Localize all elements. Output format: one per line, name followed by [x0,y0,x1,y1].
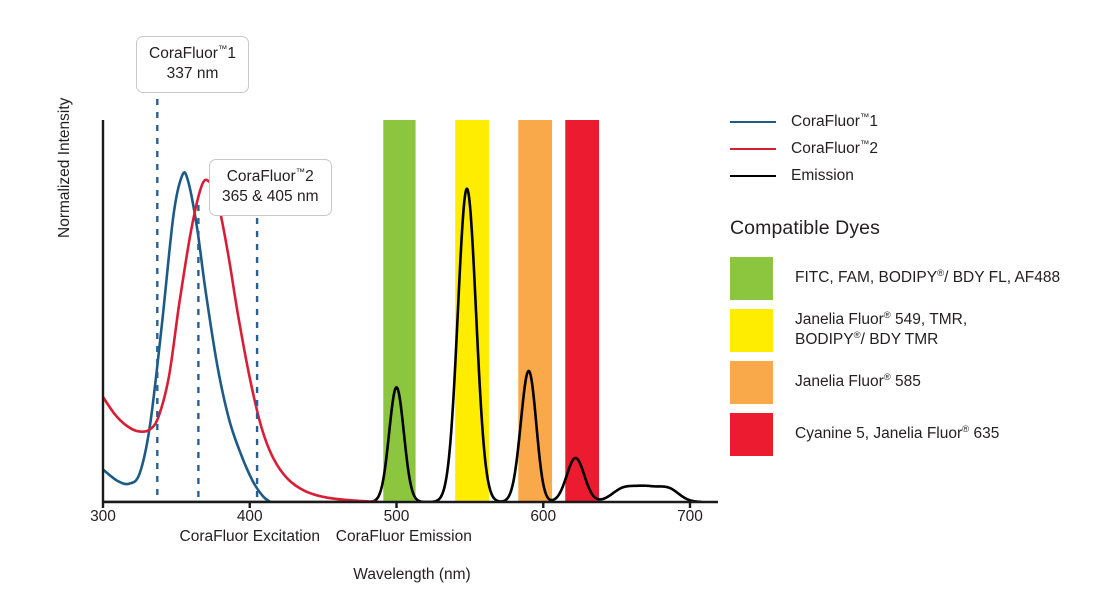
series-legend: CoraFluor™1CoraFluor™2Emission [730,108,1090,189]
legend-series-line-swatch [730,148,776,150]
compatible-dyes-heading: Compatible Dyes [730,217,1090,240]
callout-corafluor2: CoraFluor™2 365 & 405 nm [209,159,332,216]
callout-corafluor2-line1: CoraFluor™2 [222,167,319,187]
legend-dye-label: FITC, FAM, BODIPY®/ BDY FL, AF488 [795,268,1060,288]
compatible-dyes-legend: FITC, FAM, BODIPY®/ BDY FL, AF488Janelia… [730,252,1090,460]
legend-dye-row: FITC, FAM, BODIPY®/ BDY FL, AF488 [730,252,1090,304]
emission-band-orange [518,120,552,502]
callout-corafluor1-line1: CoraFluor™1 [149,44,236,64]
emission-band-group [383,120,599,502]
legend-series-line-swatch [730,175,776,177]
x-axis-tick-label-300: 300 [90,508,116,526]
legend-series-row: CoraFluor™1 [730,108,1090,135]
legend-dye-label: Janelia Fluor® 549, TMR,BODIPY®/ BDY TMR [795,310,967,351]
legend-series-label: Emission [791,167,854,185]
x-axis-region-label-excitation: CoraFluor Excitation [180,528,320,546]
legend-series-row: Emission [730,162,1090,189]
x-axis-tick-label-400: 400 [237,508,263,526]
legend-dye-row: Janelia Fluor® 549, TMR,BODIPY®/ BDY TMR [730,304,1090,356]
legend-dye-swatch [730,257,773,300]
x-axis-region-label-emission: CoraFluor Emission [336,528,472,546]
legend-dye-row: Cyanine 5, Janelia Fluor® 635 [730,408,1090,460]
x-axis-title: Wavelength (nm) [353,566,470,584]
legend-series-row: CoraFluor™2 [730,135,1090,162]
legend-dye-swatch [730,361,773,404]
legend-dye-swatch [730,309,773,352]
x-axis-tick-label-700: 700 [677,508,703,526]
excitation-curve-1 [103,172,270,502]
callout-corafluor1: CoraFluor™1 337 nm [136,36,249,93]
legend-series-label: CoraFluor™2 [791,140,878,158]
legend-dye-label: Cyanine 5, Janelia Fluor® 635 [795,424,999,444]
x-axis-tick-label-600: 600 [530,508,556,526]
callout-corafluor2-line2: 365 & 405 nm [222,187,319,207]
legend-series-line-swatch [730,121,776,123]
y-axis-title: Normalized Intensity [56,98,74,238]
legend-panel: CoraFluor™1CoraFluor™2Emission Compatibl… [730,108,1090,460]
spectra-figure: CoraFluor™1 337 nm CoraFluor™2 365 & 405… [0,0,1110,612]
callout-corafluor1-line2: 337 nm [149,64,236,84]
legend-series-label: CoraFluor™1 [791,113,878,131]
legend-dye-label: Janelia Fluor® 585 [795,372,921,392]
legend-dye-row: Janelia Fluor® 585 [730,356,1090,408]
x-axis-tick-label-500: 500 [384,508,410,526]
emission-band-red [565,120,599,502]
legend-dye-swatch [730,413,773,456]
